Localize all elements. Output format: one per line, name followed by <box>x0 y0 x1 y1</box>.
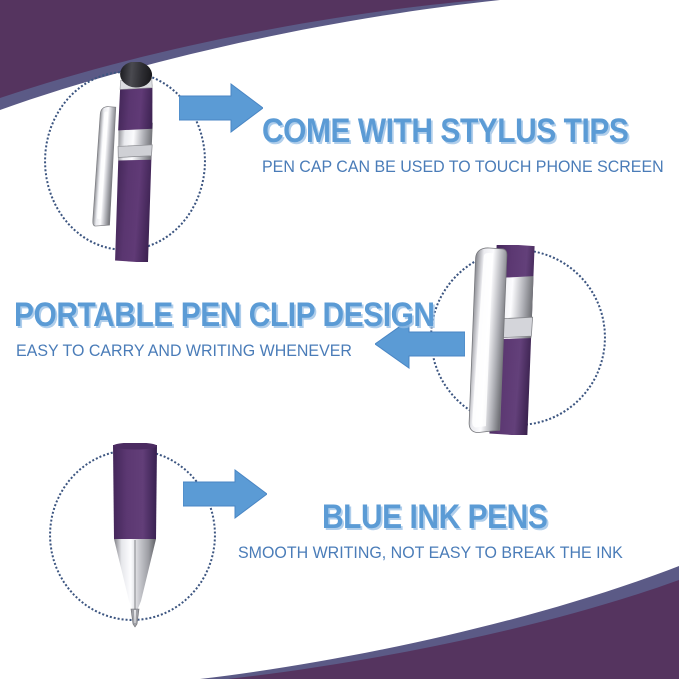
feature-subtitle-stylus-tips: PEN CAP CAN BE USED TO TOUCH PHONE SCREE… <box>262 158 664 177</box>
feature-subtitle-pen-clip: EASY TO CARRY AND WRITING WHENEVER <box>16 342 463 361</box>
arrow-right-stylus-tips <box>179 82 263 134</box>
feature-text-stylus-tips: COME WITH STYLUS TIPS PEN CAP CAN BE USE… <box>262 114 679 176</box>
pen-writing-tip-illustration <box>85 443 195 628</box>
arrow-right-blue-ink <box>183 468 267 520</box>
pen-grip-barrel <box>113 445 157 539</box>
pen-cap-barrel <box>117 82 155 132</box>
feature-text-pen-clip: PORTABLE PEN CLIP DESIGN EASY TO CARRY A… <box>14 298 492 360</box>
swoosh-bottom-right-body <box>228 580 679 679</box>
feature-subtitle-blue-ink: SMOOTH WRITING, NOT EASY TO BREAK THE IN… <box>238 544 623 563</box>
swoosh-bottom-right-edge <box>200 566 679 679</box>
feature-text-blue-ink: BLUE INK PENS SMOOTH WRITING, NOT EASY T… <box>322 500 647 562</box>
pen-barrel <box>111 152 155 262</box>
feature-title-blue-ink: BLUE INK PENS <box>322 500 608 535</box>
feature-title-stylus-tips: COME WITH STYLUS TIPS <box>262 114 638 149</box>
product-feature-infographic: COME WITH STYLUS TIPS PEN CAP CAN BE USE… <box>0 0 679 679</box>
feature-title-pen-clip: PORTABLE PEN CLIP DESIGN <box>14 298 435 333</box>
